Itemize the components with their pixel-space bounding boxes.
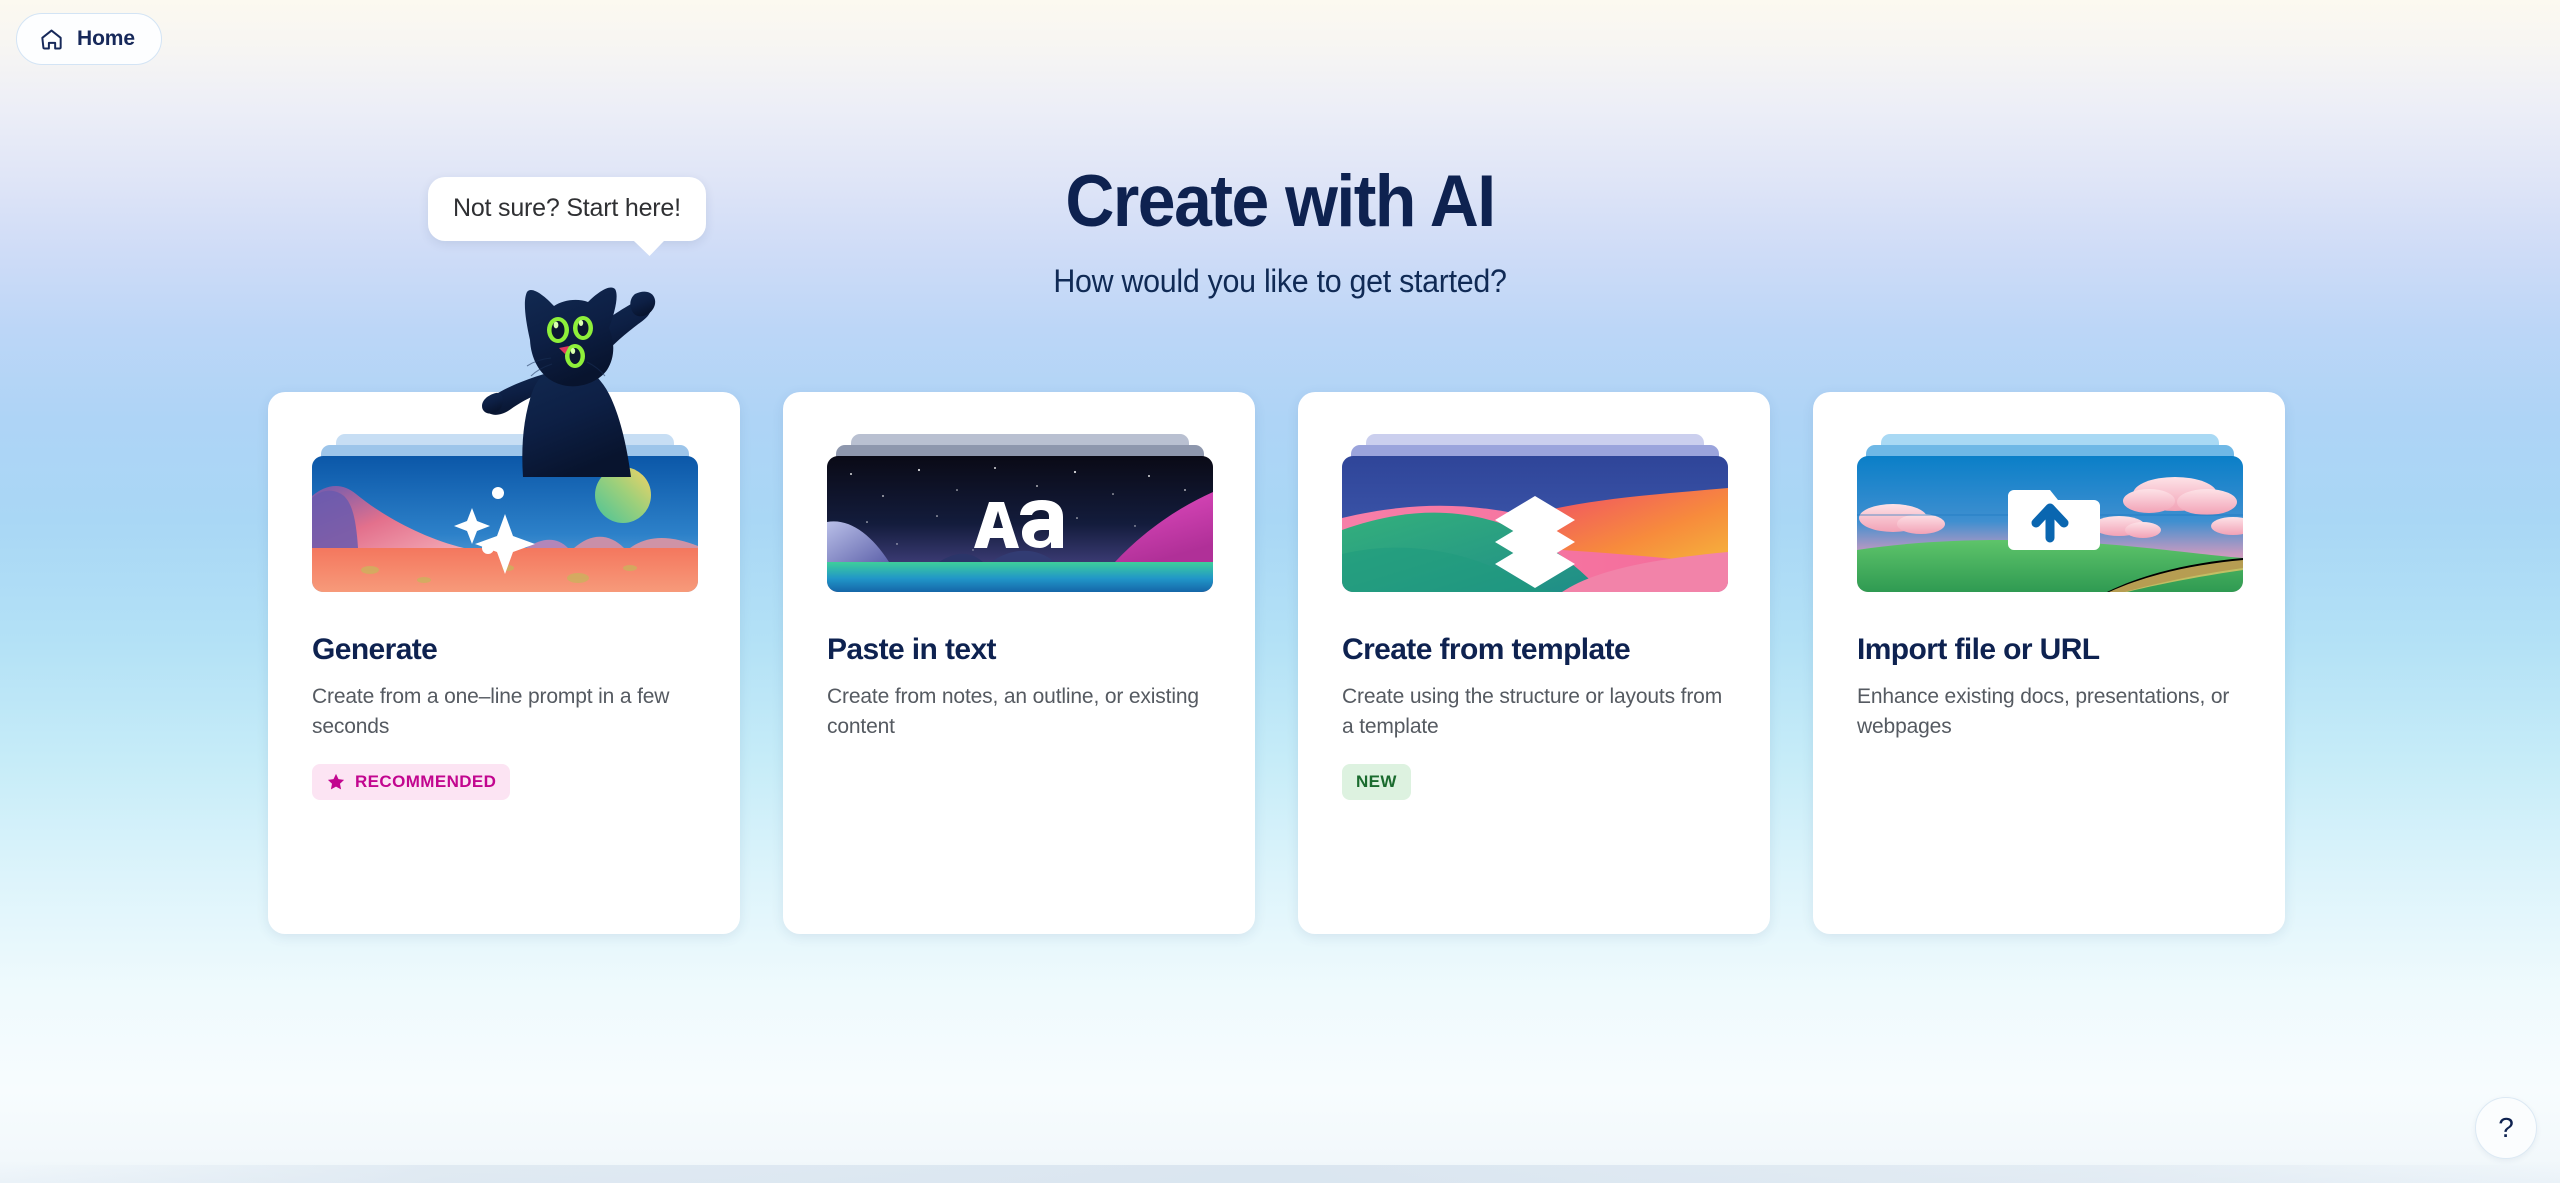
home-button-label: Home xyxy=(77,27,135,51)
card-title: Import file or URL xyxy=(1857,632,2241,668)
page-subtitle: How would you like to get started? xyxy=(64,262,2496,300)
card-import-file-or-url[interactable]: Import file or URL Enhance existing docs… xyxy=(1813,392,2285,934)
thumbnail-stack xyxy=(827,434,1213,592)
rolling-hills-thumbnail xyxy=(1342,456,1728,592)
card-description: Enhance existing docs, presentations, or… xyxy=(1857,682,2241,742)
tooltip-tail xyxy=(632,239,666,256)
starry-night-landscape-thumbnail xyxy=(827,456,1213,592)
hero-section: Create with AI How would you like to get… xyxy=(0,0,2560,300)
start-here-tooltip: Not sure? Start here! xyxy=(428,177,706,241)
house-icon xyxy=(39,27,64,52)
help-label: ? xyxy=(2498,1112,2514,1144)
card-title: Create from template xyxy=(1342,632,1726,668)
thumbnail-stack xyxy=(1857,434,2243,592)
home-button[interactable]: Home xyxy=(16,13,162,65)
pink-clouds-field-thumbnail xyxy=(1857,456,2243,592)
card-title: Paste in text xyxy=(827,632,1211,668)
desert-landscape-thumbnail xyxy=(312,456,698,592)
status-badge-recommended: RECOMMENDED xyxy=(312,764,510,800)
thumbnail-stack xyxy=(312,434,698,592)
card-paste-in-text[interactable]: Paste in text Create from notes, an outl… xyxy=(783,392,1255,934)
thumbnail-stack xyxy=(1342,434,1728,592)
card-description: Create from a one–line prompt in a few s… xyxy=(312,682,696,742)
card-description: Create from notes, an outline, or existi… xyxy=(827,682,1211,742)
help-button[interactable]: ? xyxy=(2475,1097,2537,1159)
card-generate[interactable]: Generate Create from a one–line prompt i… xyxy=(268,392,740,934)
status-badge-new: NEW xyxy=(1342,764,1411,800)
card-description: Create using the structure or layouts fr… xyxy=(1342,682,1726,742)
badge-label: RECOMMENDED xyxy=(355,772,496,792)
card-create-from-template[interactable]: Create from template Create using the st… xyxy=(1298,392,1770,934)
create-options-list: Generate Create from a one–line prompt i… xyxy=(268,392,2285,934)
star-icon xyxy=(326,772,346,792)
card-title: Generate xyxy=(312,632,696,668)
badge-label: NEW xyxy=(1356,772,1397,792)
bottom-edge-shadow xyxy=(0,1165,2560,1183)
tooltip-text: Not sure? Start here! xyxy=(453,194,681,222)
